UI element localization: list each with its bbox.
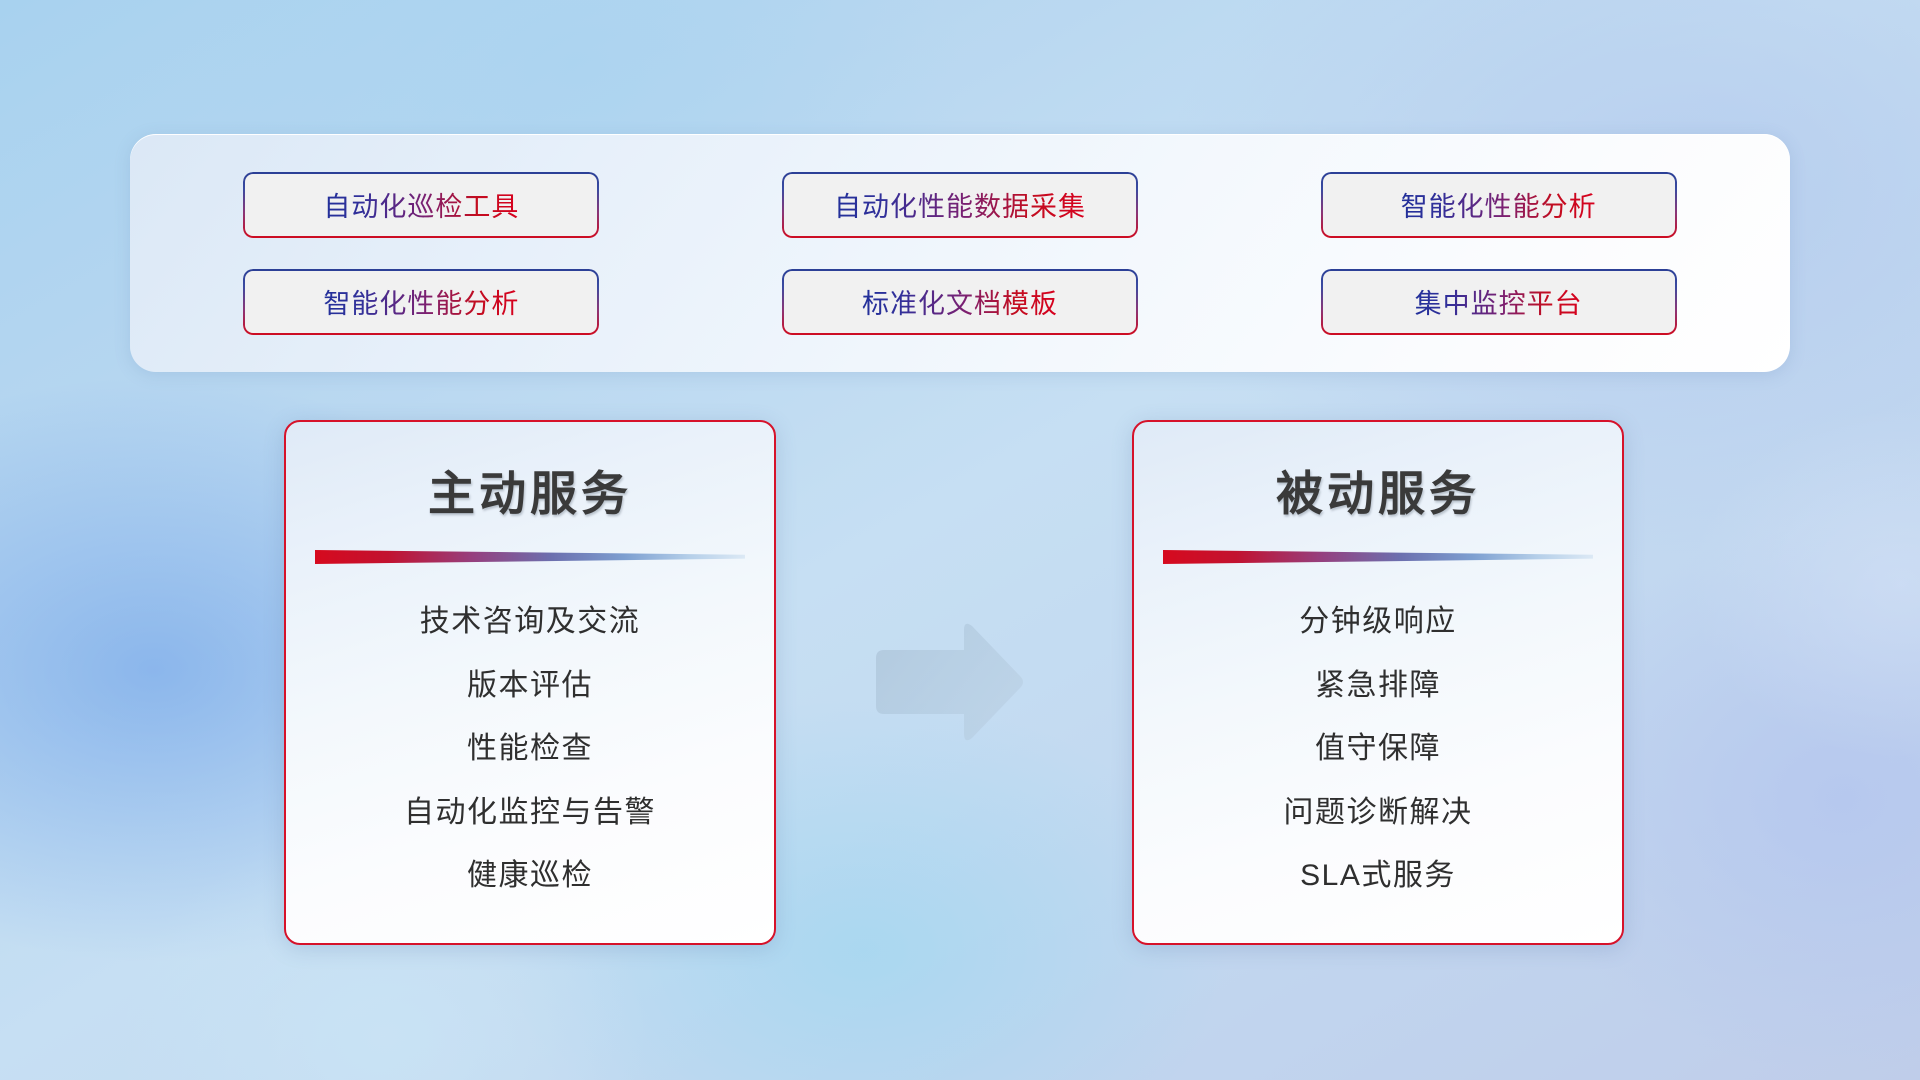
passive-service-card-divider xyxy=(1163,550,1593,564)
capability-tag[interactable]: 自动化巡检工具 xyxy=(243,172,599,238)
active-service-card: 主动服务 技术咨询及交流 版本评估 性能检查 自动化监控与告警 健康巡检 xyxy=(284,420,776,945)
active-service-card-divider xyxy=(315,550,745,564)
list-item: 紧急排障 xyxy=(1134,654,1622,718)
capability-tag-label: 自动化巡检工具 xyxy=(323,185,519,224)
capability-tag-label: 自动化性能数据采集 xyxy=(834,185,1086,224)
capability-tag-label: 智能化性能分析 xyxy=(1401,185,1597,224)
list-item: 技术咨询及交流 xyxy=(286,590,774,654)
passive-service-card-title: 被动服务 xyxy=(1134,455,1622,524)
capability-tags-panel: 自动化巡检工具 自动化性能数据采集 智能化性能分析 智能化性能分析 标准化文档模… xyxy=(130,134,1790,372)
passive-service-item-list: 分钟级响应 紧急排障 值守保障 问题诊断解决 SLA式服务 xyxy=(1134,564,1622,908)
list-item: 分钟级响应 xyxy=(1134,590,1622,654)
list-item: 问题诊断解决 xyxy=(1134,781,1622,845)
capability-tag-label: 集中监控平台 xyxy=(1415,282,1583,321)
capability-tags-grid: 自动化巡检工具 自动化性能数据采集 智能化性能分析 智能化性能分析 标准化文档模… xyxy=(130,134,1790,372)
capability-tag-label: 智能化性能分析 xyxy=(323,282,519,321)
list-item: 健康巡检 xyxy=(286,844,774,908)
list-item: 版本评估 xyxy=(286,654,774,718)
capability-tag[interactable]: 自动化性能数据采集 xyxy=(782,172,1138,238)
capability-tag[interactable]: 智能化性能分析 xyxy=(243,269,599,335)
right-arrow-icon xyxy=(868,618,1028,748)
capability-tag[interactable]: 集中监控平台 xyxy=(1321,269,1677,335)
passive-service-card: 被动服务 分钟级响应 紧急排障 值守保障 问题诊断解决 SLA式服务 xyxy=(1132,420,1624,945)
list-item: 值守保障 xyxy=(1134,717,1622,781)
active-service-card-title: 主动服务 xyxy=(286,455,774,524)
capability-tag[interactable]: 标准化文档模板 xyxy=(782,269,1138,335)
capability-tag-label: 标准化文档模板 xyxy=(862,282,1058,321)
list-item: SLA式服务 xyxy=(1134,844,1622,908)
active-service-item-list: 技术咨询及交流 版本评估 性能检查 自动化监控与告警 健康巡检 xyxy=(286,564,774,908)
capability-tag[interactable]: 智能化性能分析 xyxy=(1321,172,1677,238)
list-item: 性能检查 xyxy=(286,717,774,781)
list-item: 自动化监控与告警 xyxy=(286,781,774,845)
